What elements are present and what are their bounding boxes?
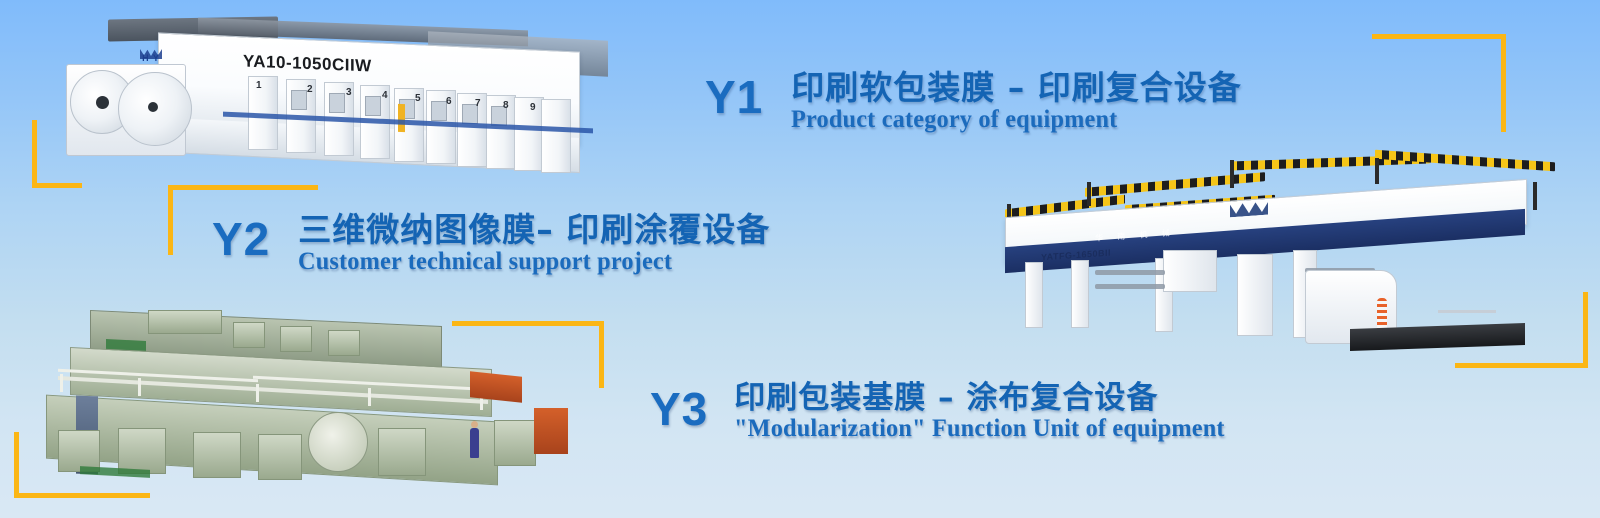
category-text-y3: 印刷包装基膜 – 涂布复合设备 "Modularization" Functio… [734,382,1240,443]
machine-photo-printing-press: H Y YA10-1050CIIW 1 2 3 4 5 6 7 8 9 [48,8,608,180]
paperline-reel [308,412,368,472]
press-control-panel [329,93,345,113]
press-unit-number: 1 [256,80,262,91]
paperline-module [58,430,100,472]
press-unit-number: 9 [530,102,536,113]
paperline-module [494,420,536,466]
laminator-rail-post [1375,158,1379,184]
machine-photo-coating-laminator: 华 南 机 械 YATFG-1650BII [975,150,1575,365]
category-row-y3: Y3 印刷包装基膜 – 涂布复合设备 "Modularization" Func… [650,382,1240,443]
category-text-y2: 三维微纳图像膜– 印刷涂覆设备 Customer technical suppo… [298,212,770,275]
category-row-y1: Y1 印刷软包装膜 – 印刷复合设备 Product category of e… [705,70,1242,133]
paperline-rail-post [138,378,141,396]
category-subtitle-en-y3: "Modularization" Function Unit of equipm… [734,415,1225,443]
laminator-safety-rail [1085,172,1265,197]
paperline-rail-post [60,374,63,392]
paperline-duct [148,310,222,334]
laminator-rail-post [1533,182,1537,210]
laminator-leg [1237,254,1273,336]
category-title-cn-y1: 印刷软包装膜 – 印刷复合设备 [791,70,1241,106]
press-unit-number: 4 [382,90,388,101]
paperline-module [258,434,302,480]
paperline-module [193,432,241,478]
press-unit [514,97,544,171]
laminator-leg [1163,250,1217,292]
paperline-fan-unit [233,322,265,348]
bracket-middle-vertical [599,321,604,388]
category-text-y1: 印刷软包装膜 – 印刷复合设备 Product category of equi… [791,70,1241,133]
laminator-rail-post [1087,182,1091,206]
paperline-orange-unit [470,371,522,402]
bracket-right-lower-vertical [1583,292,1588,368]
press-unit-number: 3 [346,87,352,98]
press-control-panel [365,96,381,116]
category-row-y2: Y2 三维微纳图像膜– 印刷涂覆设备 Customer technical su… [212,212,770,275]
bracket-top-right-horizontal [1372,34,1506,39]
press-reel-hub-left [96,96,109,109]
press-unit-number: 8 [503,100,509,111]
laminator-leg [1071,260,1089,328]
laminator-roller [1095,270,1165,275]
press-unit [541,99,571,173]
press-unit-number: 7 [475,98,481,109]
paperline-rail-post [368,388,371,406]
paperline-orange-unit [534,408,568,454]
laminator-safety-rail [1375,150,1555,172]
press-unit-number: 2 [307,84,313,95]
category-label-y3: Y3 [650,386,708,432]
category-label-y2: Y2 [212,216,270,262]
bracket-press-underline [168,185,318,190]
bracket-left-upper-horizontal [32,183,82,188]
press-reel-hub-right [148,102,158,112]
category-title-cn-y2: 三维微纳图像膜– 印刷涂覆设备 [298,212,770,248]
paperline-module [118,428,166,474]
press-control-panel [291,90,307,110]
laminator-leg [1025,262,1043,328]
equipment-category-banner: H Y YA10-1050CIIW 1 2 3 4 5 6 7 8 9 [0,0,1600,518]
paperline-rail-post [256,384,259,402]
bracket-top-right-vertical [1501,34,1506,132]
laminator-scissor-lift [1430,290,1540,338]
category-subtitle-en-y1: Product category of equipment [791,106,1228,134]
press-unit-number: 5 [415,93,421,104]
bracket-left-upper-vertical [32,120,37,188]
machine-photo-paper-coating-line [18,300,580,480]
paperline-fan-unit [280,326,312,352]
bracket-press-drop [168,185,173,255]
laminator-rail-post [1230,160,1234,188]
bracket-bottom-left-horizontal [14,493,150,498]
press-control-panel [431,101,447,121]
paperline-module [378,428,426,476]
category-subtitle-en-y2: Customer technical support project [298,248,756,276]
category-label-y1: Y1 [705,74,763,120]
paperline-fan-unit [328,330,360,356]
laminator-roller [1095,284,1165,289]
press-unit-number: 6 [446,96,452,107]
paperline-operator [470,428,479,458]
press-indicator-bar [398,104,405,132]
category-title-cn-y3: 印刷包装基膜 – 涂布复合设备 [734,382,1240,415]
press-brand-logo: H Y [128,48,174,68]
